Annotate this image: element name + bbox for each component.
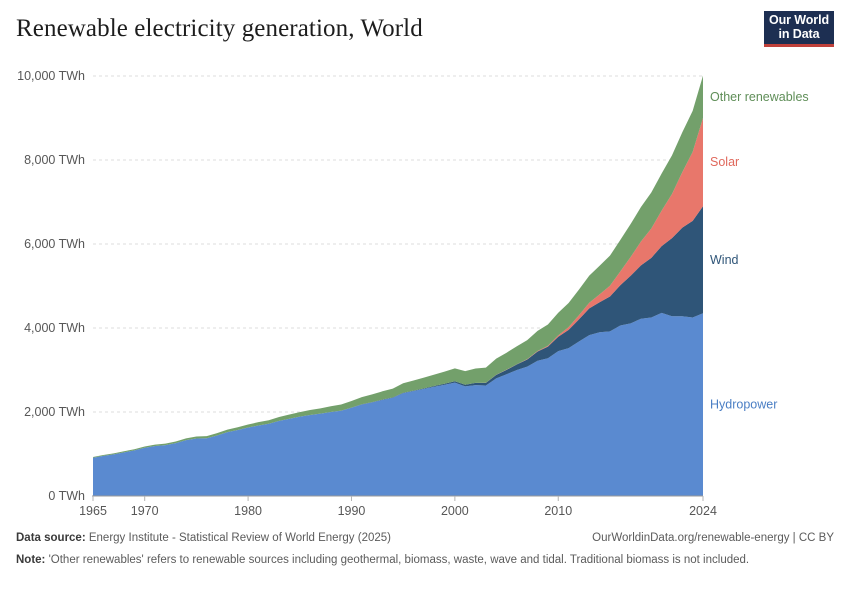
plot-area: 10,000 TWh8,000 TWh6,000 TWh4,000 TWh2,0… — [0, 0, 850, 520]
data-source: Data source: Energy Institute - Statisti… — [16, 530, 391, 546]
stacked-area-chart: 10,000 TWh8,000 TWh6,000 TWh4,000 TWh2,0… — [0, 0, 850, 520]
x-axis-tick-label: 1990 — [338, 504, 366, 518]
series-label-hydropower: Hydropower — [710, 398, 777, 412]
x-axis-tick-label: 2010 — [544, 504, 572, 518]
y-axis-tick-label: 10,000 TWh — [17, 69, 85, 83]
license-link[interactable]: OurWorldinData.org/renewable-energy | CC… — [592, 530, 834, 546]
x-axis-tick-label: 1965 — [79, 504, 107, 518]
chart-note: Note: 'Other renewables' refers to renew… — [16, 552, 806, 568]
chart-root: Renewable electricity generation, World … — [0, 0, 850, 600]
series-label-wind: Wind — [710, 253, 739, 267]
y-axis-tick-label: 6,000 TWh — [24, 237, 85, 251]
series-label-solar: Solar — [710, 155, 739, 169]
chart-footer: Data source: Energy Institute - Statisti… — [16, 530, 834, 568]
x-axis-tick-label: 1980 — [234, 504, 262, 518]
note-label: Note: — [16, 554, 45, 566]
data-source-label: Data source: — [16, 532, 86, 544]
series-label-other-renewables: Other renewables — [710, 90, 809, 104]
data-source-text: Energy Institute - Statistical Review of… — [86, 532, 391, 544]
x-axis-tick-label: 1970 — [131, 504, 159, 518]
y-axis-tick-label: 4,000 TWh — [24, 321, 85, 335]
y-axis-tick-label: 8,000 TWh — [24, 153, 85, 167]
y-axis-tick-label: 2,000 TWh — [24, 405, 85, 419]
x-axis-tick-label: 2024 — [689, 504, 717, 518]
y-axis-tick-label: 0 TWh — [48, 489, 85, 503]
area-series-hydropower — [93, 313, 703, 496]
note-text: 'Other renewables' refers to renewable s… — [45, 554, 749, 566]
x-axis-tick-label: 2000 — [441, 504, 469, 518]
